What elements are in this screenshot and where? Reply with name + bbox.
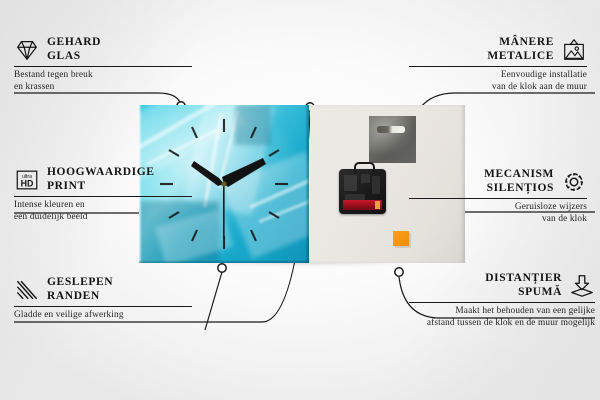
- clock-center-cap: [221, 181, 226, 186]
- divider: [409, 302, 595, 303]
- feature-desc-2: afstand tussen de klok en de muur mogeli…: [409, 318, 595, 330]
- clock-mechanism-box: [339, 169, 386, 214]
- divider: [409, 198, 587, 199]
- feature-desc: Gladde en veilige afwerking: [14, 310, 192, 322]
- feature-desc-2: van de klok aan de muur: [409, 82, 587, 94]
- feature-desc-2: een duidelijk beeld: [14, 212, 192, 224]
- tick-7: [192, 230, 197, 241]
- wall-hanging-icon: [561, 37, 587, 63]
- feature-title: GESLEPEN: [47, 276, 113, 290]
- feature-desc: Bestand tegen breuk: [14, 70, 192, 82]
- ultra-hd-icon: ultra HD: [14, 167, 40, 193]
- mechanism-hook: [354, 162, 375, 173]
- gear-icon: [561, 169, 587, 195]
- feature-desc-2: en krassen: [14, 82, 192, 94]
- feature-desc: Eenvoudige installatie: [409, 70, 587, 82]
- feature-title-2: PRINT: [47, 180, 155, 194]
- feature-title-2: RANDEN: [47, 290, 113, 304]
- metal-hanger-plate: [369, 116, 416, 163]
- beveled-edges-icon: [14, 277, 40, 303]
- svg-text:HD: HD: [21, 178, 34, 188]
- divider: [14, 196, 192, 197]
- tick-1: [251, 127, 256, 138]
- feature-title-2: GLAS: [47, 50, 101, 64]
- feature-title: HOOGWAARDIGE: [47, 166, 155, 180]
- feature-desc-2: van de klok: [409, 214, 587, 226]
- foam-spacer: [393, 231, 409, 246]
- feature-desc: Intense kleuren en: [14, 200, 192, 212]
- feature-title-2: SILENȚIOS: [409, 182, 554, 196]
- infographic-canvas: GEHARD GLAS Bestand tegen breuk en krass…: [0, 0, 600, 400]
- feature-title: GEHARD: [47, 36, 101, 50]
- feature-mecanism-silentios: MECANISM SILENȚIOS Geruisloze wijzers va…: [409, 168, 587, 225]
- divider: [14, 306, 192, 307]
- clock-second-hand: [223, 184, 225, 239]
- feature-title-2: METALICE: [409, 50, 554, 64]
- feature-desc: Maakt het behouden van een gelijke: [409, 306, 595, 318]
- tick-5: [251, 230, 256, 241]
- tick-2: [269, 150, 279, 156]
- feature-hoogwaardige-print: ultra HD HOOGWAARDIGE PRINT Intense kleu…: [14, 166, 192, 223]
- clock-hour-hand: [191, 161, 224, 186]
- feature-desc: Geruisloze wijzers: [409, 202, 587, 214]
- callout-marker-spacer: [395, 268, 403, 276]
- feature-title: MECANISM: [409, 168, 554, 182]
- feature-title: MÂNERE: [409, 36, 554, 50]
- feature-title: DISTANȚIER: [409, 272, 562, 286]
- tick-4: [269, 212, 279, 218]
- feature-title-2: SPUMĂ: [409, 286, 562, 300]
- divider: [409, 66, 587, 67]
- callout-line-bottom-left: [205, 272, 222, 330]
- clock-minute-hand: [222, 158, 266, 187]
- divider: [14, 66, 192, 67]
- feature-geslepen-randen: GESLEPEN RANDEN Gladde en veilige afwerk…: [14, 276, 192, 322]
- feature-gehard-glas: GEHARD GLAS Bestand tegen breuk en krass…: [14, 36, 192, 93]
- feature-distantier-spuma: DISTANȚIER SPUMĂ Maakt het behouden van …: [409, 272, 595, 329]
- callout-line-glass: [14, 93, 181, 105]
- diamond-icon: [14, 37, 40, 63]
- battery: [343, 200, 382, 210]
- feature-manere-metalice: MÂNERE METALICE Eenvoudige installatie v…: [409, 36, 587, 93]
- spacer-down-arrow-icon: [569, 273, 595, 299]
- tick-11: [192, 127, 197, 138]
- tick-10: [169, 150, 179, 156]
